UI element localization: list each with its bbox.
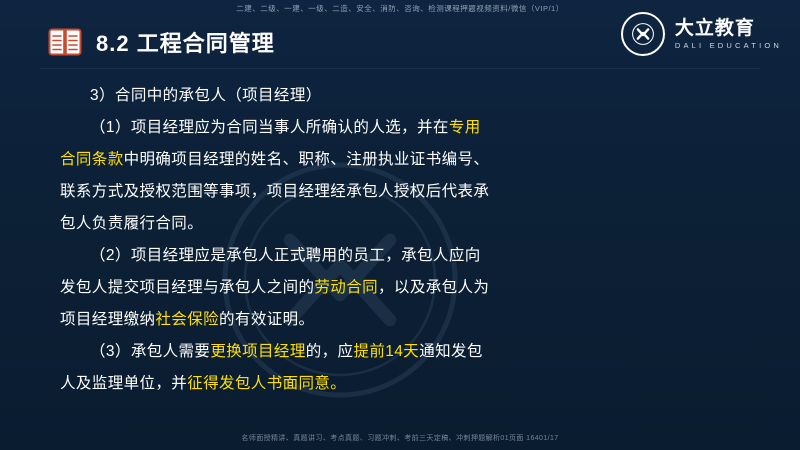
brand-logo-text: 大立教育 DALI EDUCATION bbox=[675, 19, 782, 50]
highlighted-text: 社会保险 bbox=[155, 311, 219, 328]
body-line: 包人负责履行合同。 bbox=[60, 208, 750, 240]
body-line: 联系方式及授权范围等事项，项目经理经承包人授权后代表承 bbox=[60, 176, 750, 208]
brand-name-cn: 大立教育 bbox=[675, 19, 782, 38]
body-line: 合同条款中明确项目经理的姓名、职称、注册执业证书编号、 bbox=[60, 144, 750, 176]
highlighted-text: 合同条款 bbox=[60, 151, 124, 168]
dali-circle-emblem-icon bbox=[621, 12, 665, 56]
body-line: 发包人提交项目经理与承包人之间的劳动合同，以及承包人为 bbox=[60, 272, 750, 304]
body-text: （1）项目经理应为合同当事人所确认的人选，并在 bbox=[90, 119, 449, 136]
open-book-icon bbox=[48, 27, 82, 57]
slide-canvas: 二建、二级、一建、一级、二造、安全、消防、咨询、检测课程押题视频资料/微信（VI… bbox=[0, 0, 800, 450]
body-text: 联系方式及授权范围等事项，项目经理经承包人授权后代表承 bbox=[60, 183, 489, 200]
highlighted-text: 更换项目经理 bbox=[210, 343, 305, 360]
body-text: 3）合同中的承包人（项目经理） bbox=[90, 87, 322, 104]
body-line: 项目经理缴纳社会保险的有效证明。 bbox=[60, 304, 750, 336]
body-text: 的有效证明。 bbox=[219, 311, 314, 328]
body-line: （1）项目经理应为合同当事人所确认的人选，并在专用 bbox=[60, 112, 750, 144]
body-text: 包人负责履行合同。 bbox=[60, 215, 203, 232]
highlighted-text: 提前14天 bbox=[353, 343, 419, 360]
highlighted-text: 征得发包人书面同意。 bbox=[187, 375, 346, 392]
bottom-marquee-text: 名师面授精讲、真题讲习、考点真题、习题冲刺、考前三天定稿、冲刺押题解析01页面 … bbox=[0, 433, 800, 445]
highlighted-text: 专用 bbox=[449, 119, 481, 136]
body-line: （3）承包人需要更换项目经理的，应提前14天通知发包 bbox=[60, 336, 750, 368]
body-text: ，以及承包人为 bbox=[378, 279, 489, 296]
body-text: （2）项目经理应是承包人正式聘用的员工，承包人应向 bbox=[90, 247, 481, 264]
body-text: （3）承包人需要 bbox=[90, 343, 210, 360]
body-text: 通知发包 bbox=[419, 343, 483, 360]
page-title: 8.2 工程合同管理 bbox=[48, 26, 275, 58]
body-text: 项目经理缴纳 bbox=[60, 311, 155, 328]
body-text: 人及监理单位，并 bbox=[60, 375, 187, 392]
page-title-text: 8.2 工程合同管理 bbox=[96, 26, 275, 58]
body-text: 中明确项目经理的姓名、职称、注册执业证书编号、 bbox=[124, 151, 490, 168]
brand-logo: 大立教育 DALI EDUCATION bbox=[621, 12, 782, 56]
body-line: 人及监理单位，并征得发包人书面同意。 bbox=[60, 368, 750, 400]
body-line: （2）项目经理应是承包人正式聘用的员工，承包人应向 bbox=[60, 240, 750, 272]
body-line: 3）合同中的承包人（项目经理） bbox=[60, 80, 750, 112]
brand-name-en: DALI EDUCATION bbox=[675, 42, 782, 50]
slide-body: 3）合同中的承包人（项目经理）（1）项目经理应为合同当事人所确认的人选，并在专用… bbox=[60, 80, 750, 400]
highlighted-text: 劳动合同 bbox=[314, 279, 378, 296]
body-text: 发包人提交项目经理与承包人之间的 bbox=[60, 279, 314, 296]
title-divider bbox=[40, 68, 760, 69]
body-text: 的，应 bbox=[306, 343, 354, 360]
